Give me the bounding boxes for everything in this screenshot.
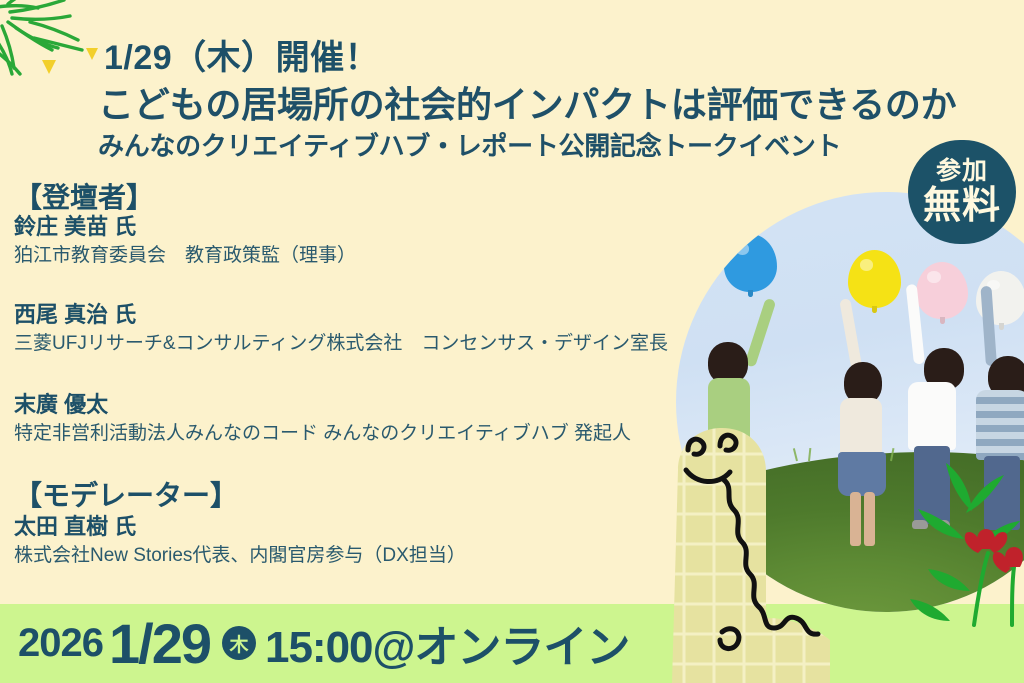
- page-subtitle: みんなのクリエイティブハブ・レポート公開記念トークイベント: [98, 126, 841, 163]
- child-legs: [850, 492, 861, 546]
- speaker-name: 末廣 優太: [14, 392, 631, 418]
- event-poster: 参加 無料: [0, 0, 1024, 683]
- speaker-affiliation: 三菱UFJリサーチ&コンサルティング株式会社 コンセンサス・デザイン室長: [14, 331, 668, 357]
- event-month-day: 1/29: [109, 611, 210, 676]
- balloon-highlight: [736, 243, 750, 255]
- child-legs: [864, 492, 875, 546]
- moderator-affiliation: 株式会社New Stories代表、内閣官房参与（DX担当）: [14, 543, 466, 569]
- balloon-highlight: [927, 271, 941, 282]
- badge-top-label: 参加: [936, 159, 988, 184]
- blue-balloon: [724, 234, 777, 292]
- pink-balloon: [916, 262, 968, 319]
- character-doodle-icon: [662, 418, 842, 683]
- event-time-venue: 15:00@オンライン: [265, 611, 629, 675]
- speaker-entry: 鈴庄 美苗 氏 狛江市教育委員会 教育政策監（理事）: [14, 214, 356, 269]
- yellow-balloon: [848, 250, 901, 308]
- child-skirt: [838, 452, 886, 496]
- free-admission-badge: 参加 無料: [908, 140, 1016, 244]
- speaker-entry: 西尾 真治 氏 三菱UFJリサーチ&コンサルティング株式会社 コンセンサス・デザ…: [14, 302, 668, 357]
- child-torso: [908, 382, 956, 450]
- moderator-entry: 太田 直樹 氏 株式会社New Stories代表、内閣官房参与（DX担当）: [14, 514, 466, 569]
- child-torso: [840, 398, 882, 456]
- speaker-name: 西尾 真治 氏: [14, 302, 668, 328]
- speaker-affiliation: 特定非営利活動法人みんなのコード みんなのクリエイティブハブ 発起人: [14, 421, 631, 447]
- event-datetime-line: 2026 1/29 木 15:00@オンライン: [18, 609, 629, 677]
- speaker-affiliation: 狛江市教育委員会 教育政策監（理事）: [14, 243, 356, 269]
- flower-doodle-bottom-right-icon: [908, 457, 1024, 627]
- badge-main-label: 無料: [923, 187, 1001, 225]
- event-day-of-week: 木: [222, 626, 256, 660]
- child-torso: [976, 390, 1024, 460]
- page-title: こどもの居場所の社会的インパクトは評価できるのか: [98, 76, 956, 128]
- balloon-highlight: [860, 259, 874, 271]
- moderator-name: 太田 直樹 氏: [14, 514, 466, 540]
- speaker-entry: 末廣 優太 特定非営利活動法人みんなのコード みんなのクリエイティブハブ 発起人: [14, 392, 631, 447]
- headline-date: 1/29（木）開催！: [104, 30, 379, 79]
- speaker-name: 鈴庄 美苗 氏: [14, 214, 356, 240]
- speakers-heading: 【登壇者】: [14, 176, 154, 216]
- event-year: 2026: [18, 621, 103, 666]
- moderator-heading: 【モデレーター】: [14, 474, 238, 514]
